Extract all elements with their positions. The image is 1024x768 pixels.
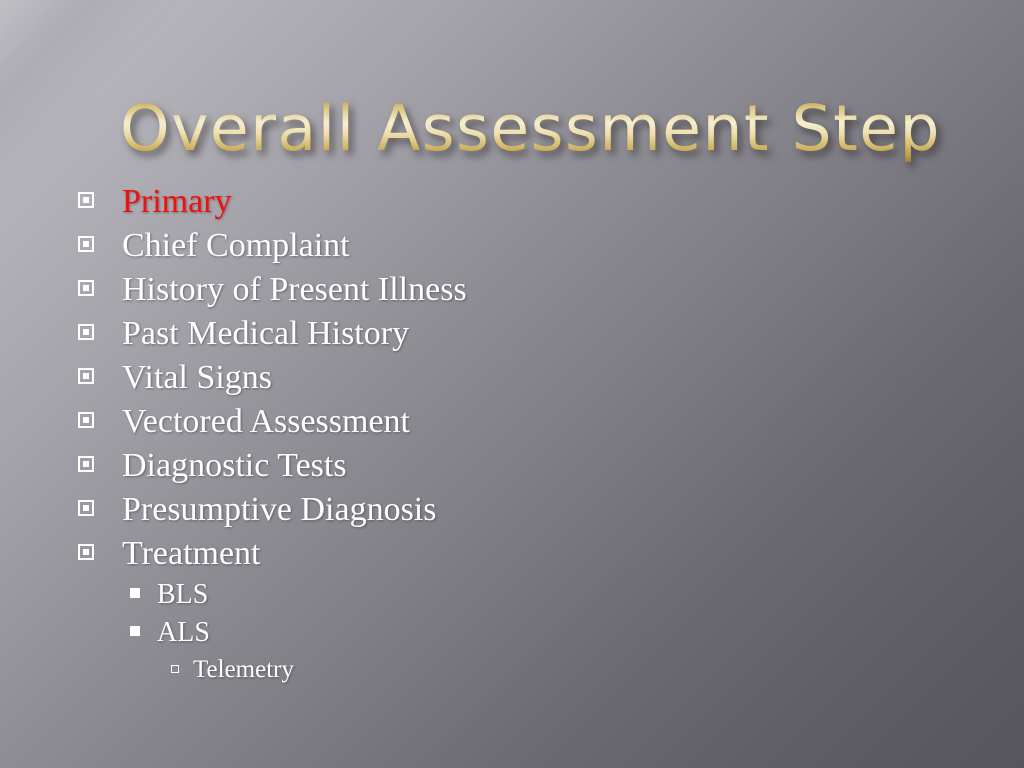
bullet-item: Primary: [0, 180, 1024, 224]
bullet-label: BLS: [157, 576, 208, 614]
bullet-item: Telemetry: [0, 652, 1024, 688]
bullet-label: Treatment: [122, 532, 261, 576]
bullet-item: Vectored Assessment: [0, 400, 1024, 444]
bullet-item: Vital Signs: [0, 356, 1024, 400]
bullet-item: ALS: [0, 614, 1024, 652]
double-square-bullet: [78, 544, 94, 560]
bullet-item: Chief Complaint: [0, 224, 1024, 268]
bullet-item: BLS: [0, 576, 1024, 614]
double-square-bullet: [78, 192, 94, 208]
bullet-label: Vectored Assessment: [122, 400, 410, 444]
bullet-label: Vital Signs: [122, 356, 272, 400]
filled-square-bullet: [130, 588, 140, 598]
double-square-bullet: [78, 236, 94, 252]
bullet-label: Presumptive Diagnosis: [122, 488, 436, 532]
double-square-bullet: [78, 500, 94, 516]
double-square-bullet: [78, 412, 94, 428]
bullet-item: History of Present Illness: [0, 268, 1024, 312]
presentation-slide: Overall Assessment Steps PrimaryChief Co…: [0, 0, 1024, 768]
bullet-item: Treatment: [0, 532, 1024, 576]
slide-title: Overall Assessment Steps: [120, 96, 940, 162]
double-square-bullet: [78, 368, 94, 384]
filled-square-bullet: [130, 626, 140, 636]
bullet-label: Diagnostic Tests: [122, 444, 347, 488]
hollow-square-bullet: [171, 665, 179, 673]
bullet-label: ALS: [157, 614, 210, 652]
slide-bullet-list: PrimaryChief ComplaintHistory of Present…: [0, 180, 1024, 688]
bullet-item: Past Medical History: [0, 312, 1024, 356]
bullet-label: Past Medical History: [122, 312, 409, 356]
bullet-label: Primary: [122, 180, 232, 224]
double-square-bullet: [78, 280, 94, 296]
double-square-bullet: [78, 324, 94, 340]
bullet-item: Presumptive Diagnosis: [0, 488, 1024, 532]
bullet-item: Diagnostic Tests: [0, 444, 1024, 488]
double-square-bullet: [78, 456, 94, 472]
bullet-label: History of Present Illness: [122, 268, 467, 312]
bullet-label: Chief Complaint: [122, 224, 350, 268]
bullet-label: Telemetry: [193, 652, 294, 688]
